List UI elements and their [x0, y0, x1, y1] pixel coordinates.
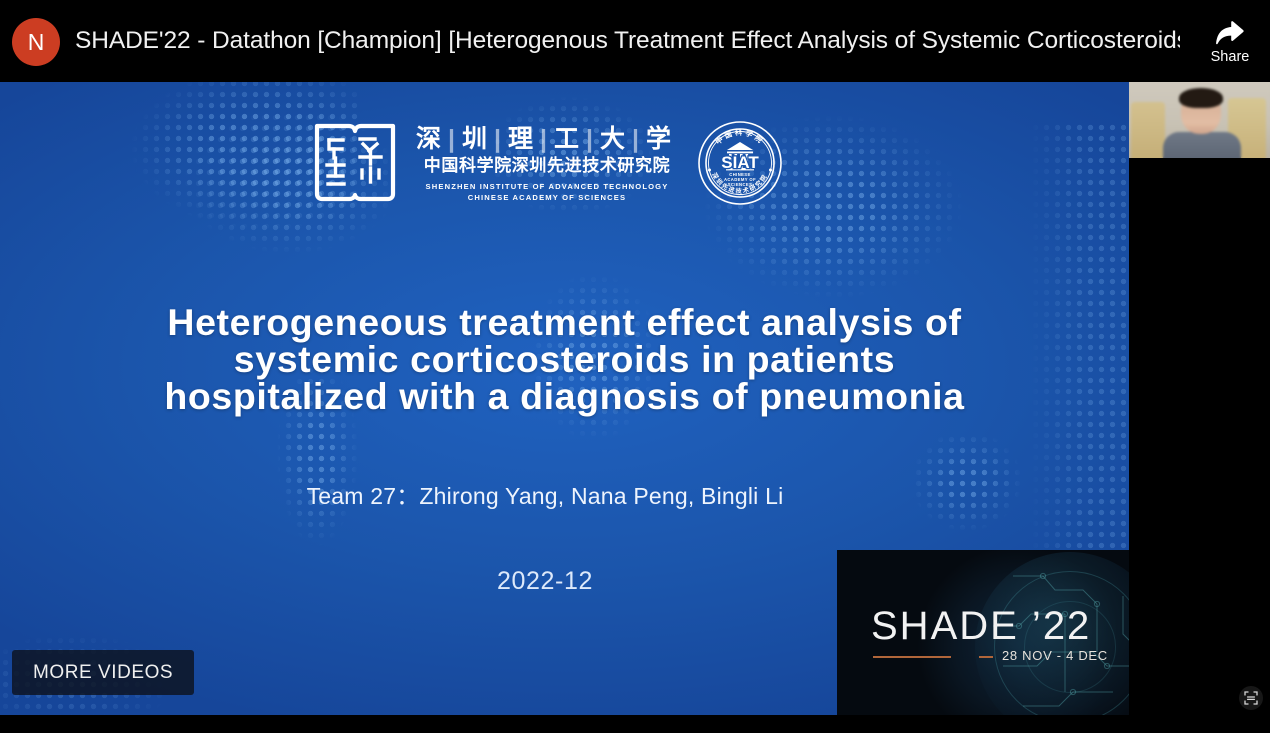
share-arrow-icon [1215, 19, 1245, 47]
video-title[interactable]: SHADE'22 - Datathon [Champion] [Heteroge… [75, 0, 1180, 82]
institution-logo: 深|圳|理|工|大|学 中国科学院深圳先进技术研究院 SHENZHEN INST… [313, 119, 803, 207]
webcam-blur-overlay [1129, 82, 1270, 158]
svg-text:SCIENCES: SCIENCES [728, 182, 753, 187]
expand-fullscreen-icon[interactable] [1239, 686, 1263, 710]
shade-wordmark: SHADE ’22 [871, 606, 1091, 646]
player-title-bar: N SHADE'22 - Datathon [Champion] [Hetero… [0, 0, 1270, 82]
shenzhen-book-logo-icon [313, 120, 397, 206]
avatar-initial: N [28, 29, 45, 56]
shade-rule-right [979, 656, 993, 658]
university-name-block: 深|圳|理|工|大|学 中国科学院深圳先进技术研究院 SHENZHEN INST… [413, 123, 681, 202]
player-bottom-strip [0, 715, 1270, 733]
shade-rule-left [873, 656, 951, 658]
slide-team-line: Team 27：Zhirong Yang, Nana Peng, Bingli … [0, 477, 1090, 511]
share-button[interactable]: Share [1198, 8, 1262, 76]
slide-headline-line-3: hospitalized with a diagnosis of pneumon… [120, 378, 1009, 415]
more-videos-button[interactable]: MORE VIDEOS [12, 650, 194, 695]
university-name-en-line1: SHENZHEN INSTITUTE OF ADVANCED TECHNOLOG… [413, 181, 681, 192]
university-name-cn-large: 深|圳|理|工|大|学 [413, 125, 681, 153]
university-name-cn-small: 中国科学院深圳先进技术研究院 [413, 155, 681, 176]
presentation-slide: 深|圳|理|工|大|学 中国科学院深圳先进技术研究院 SHENZHEN INST… [0, 82, 1129, 715]
slide-headline: Heterogeneous treatment effect analysis … [0, 304, 1129, 415]
university-name-en-line2: CHINESE ACADEMY OF SCIENCES [413, 192, 681, 203]
video-viewport[interactable]: 深|圳|理|工|大|学 中国科学院深圳先进技术研究院 SHENZHEN INST… [0, 82, 1270, 715]
shade-event-overlay: SHADE ’22 28 NOV - 4 DEC [837, 550, 1129, 715]
svg-text:SIAT: SIAT [721, 153, 759, 172]
presenter-webcam-thumbnail[interactable] [1129, 82, 1270, 158]
siat-seal-icon: SIAT CHINESE ACADEMY OF SCIENCES 中国科学院 深… [697, 120, 783, 206]
world-map-dots [30, 82, 360, 263]
slide-headline-line-1: Heterogeneous treatment effect analysis … [120, 304, 1009, 341]
share-label: Share [1211, 50, 1250, 65]
video-player: N SHADE'22 - Datathon [Champion] [Hetero… [0, 0, 1270, 733]
channel-avatar[interactable]: N [12, 18, 60, 66]
shade-event-dates: 28 NOV - 4 DEC [1002, 648, 1108, 663]
slide-headline-line-2: systemic corticosteroids in patients [120, 341, 1009, 378]
